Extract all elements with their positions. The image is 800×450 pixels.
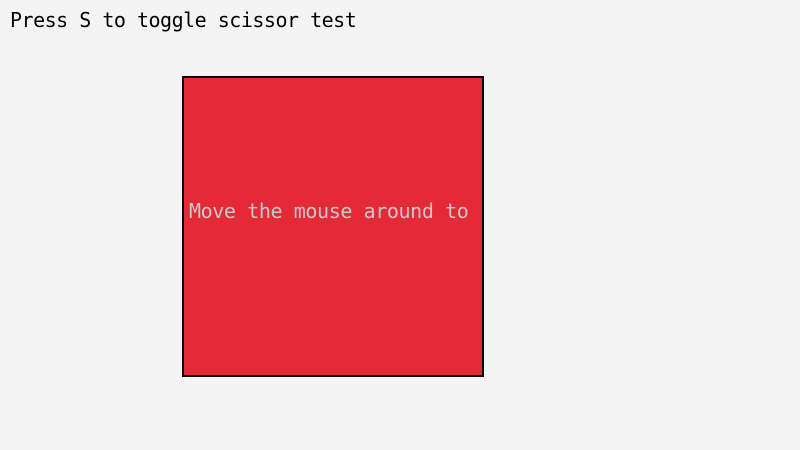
page-title: Press S to toggle scissor test (10, 8, 356, 32)
scissor-clipped-message: Move the mouse around to reveal the full… (189, 200, 484, 222)
demo-canvas[interactable]: Press S to toggle scissor test Move the … (0, 0, 800, 450)
scissor-rectangle[interactable]: Move the mouse around to reveal the full… (182, 76, 484, 377)
